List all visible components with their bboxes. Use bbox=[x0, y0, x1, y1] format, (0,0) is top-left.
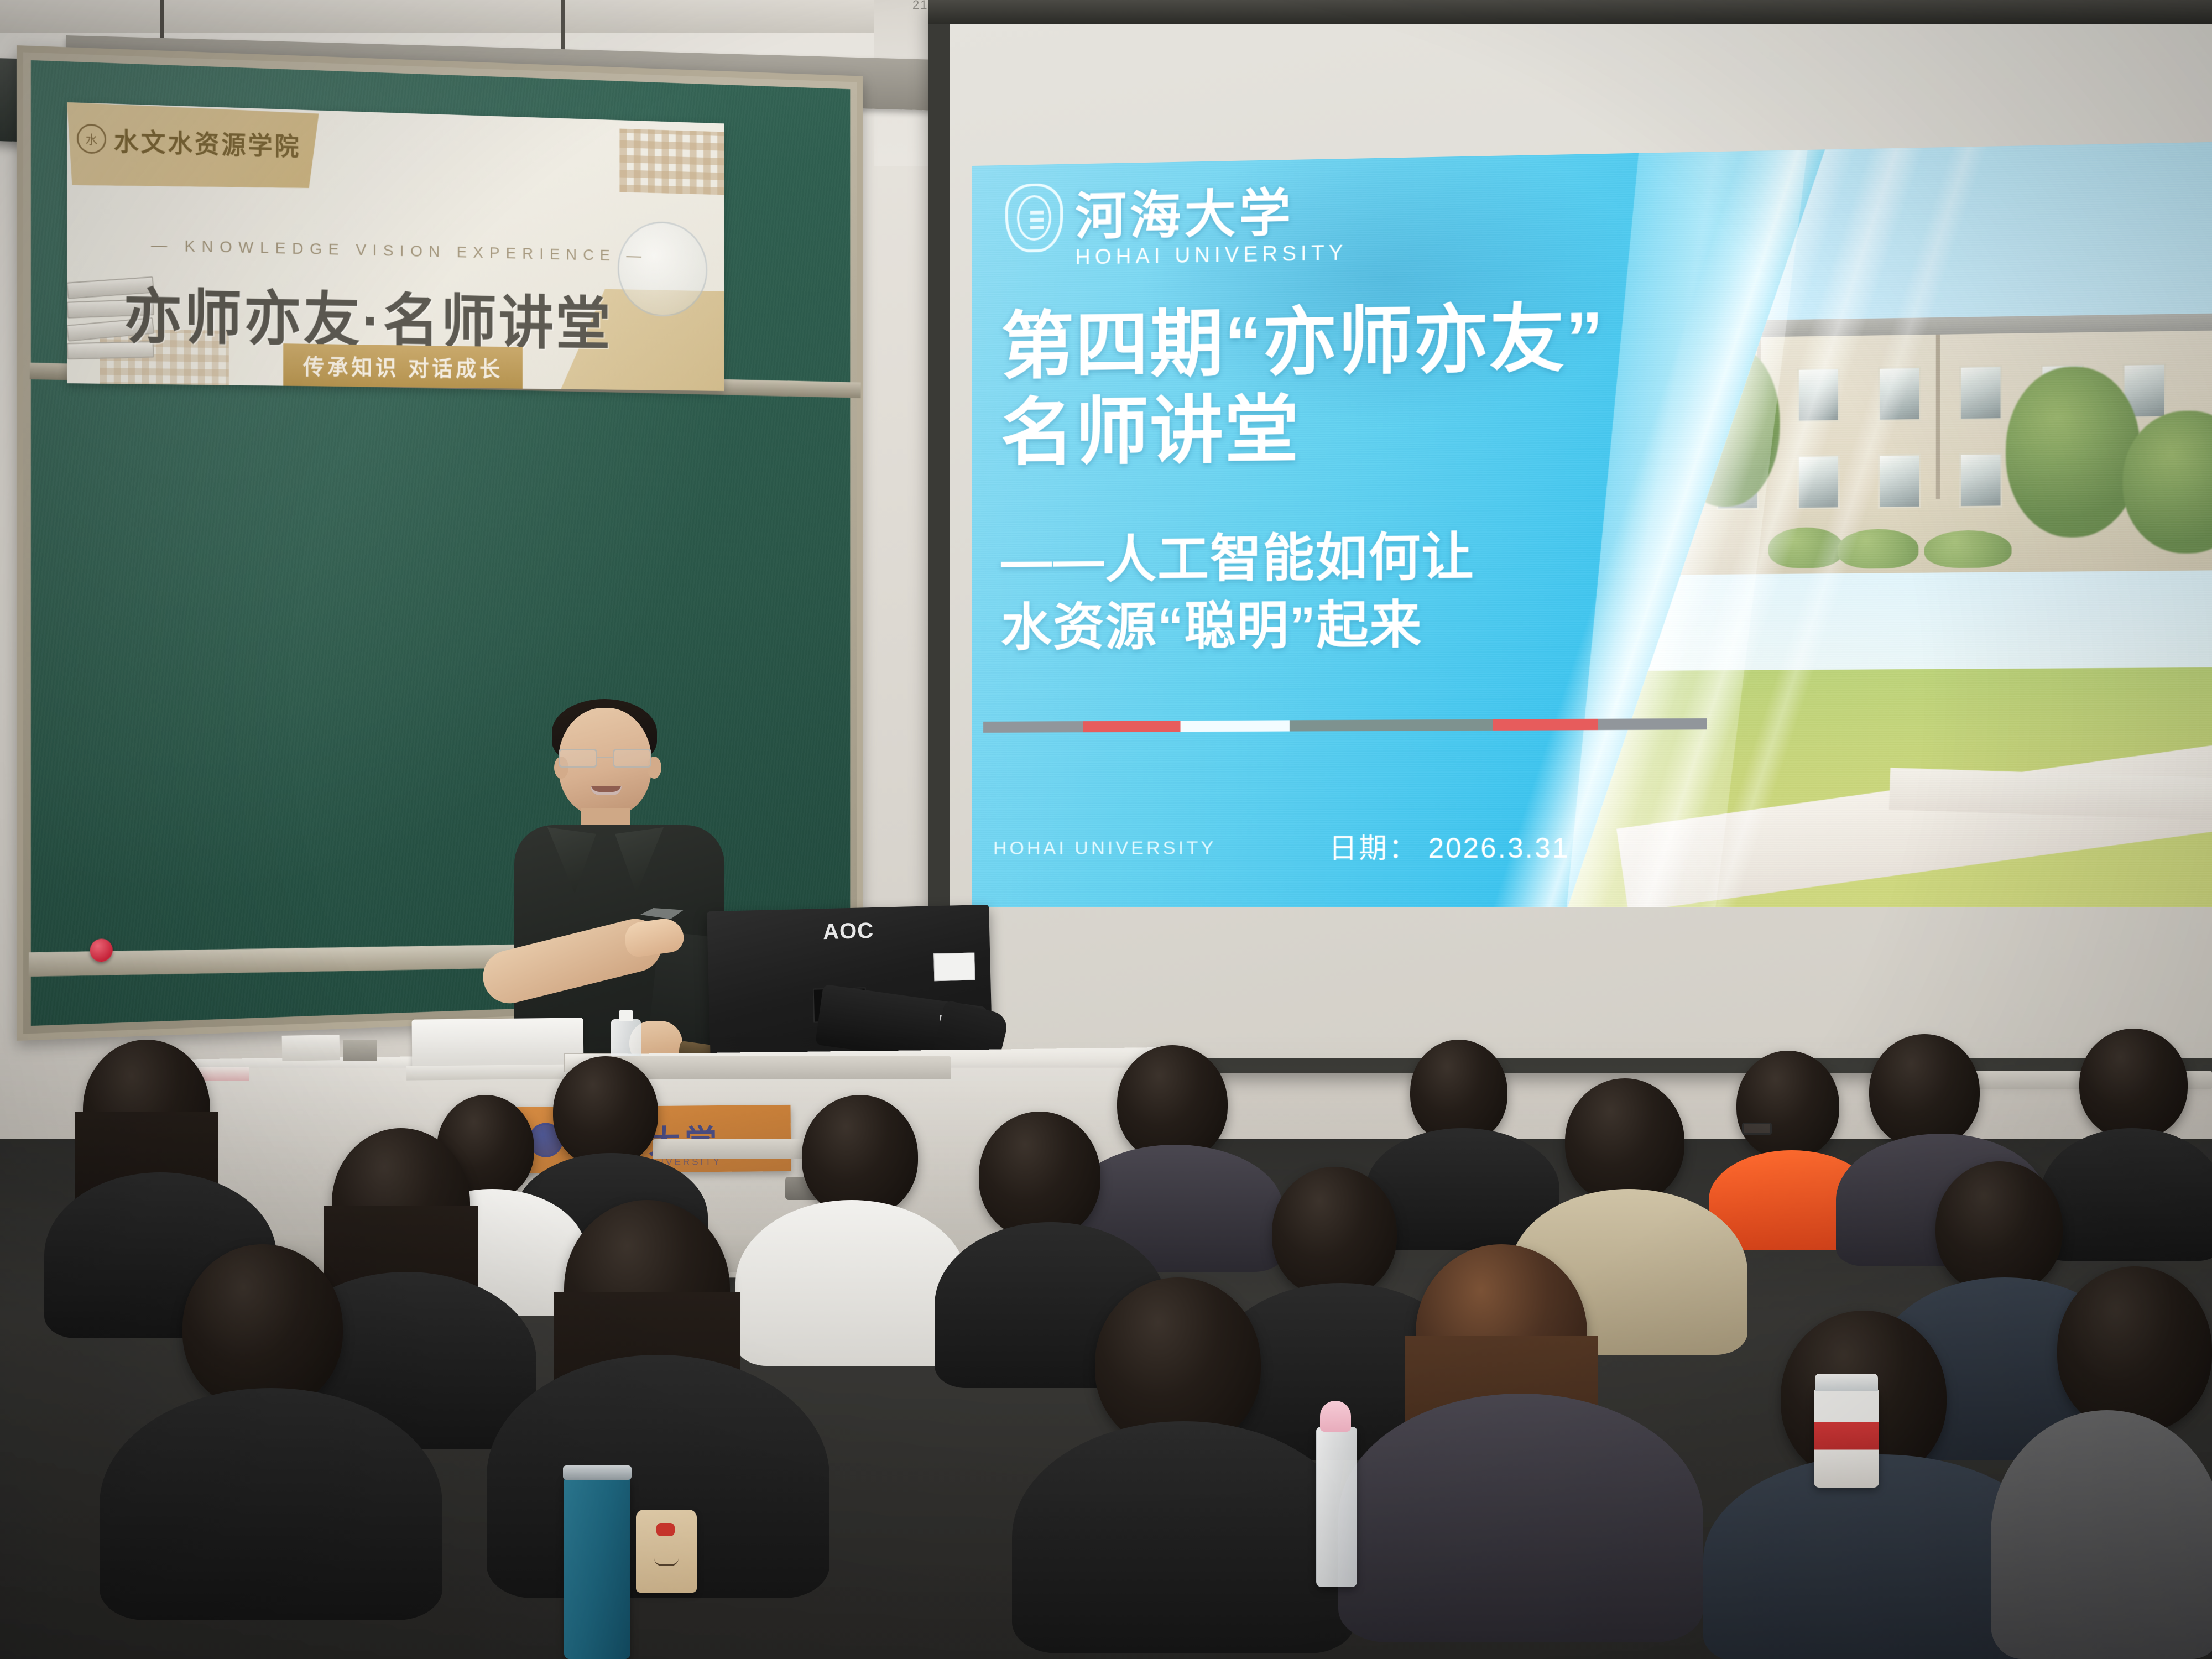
banner-checker-pattern bbox=[619, 129, 724, 195]
audience-head bbox=[2079, 1029, 2188, 1139]
slide-footer-university: HOHAI UNIVERSITY bbox=[993, 837, 1216, 859]
audience-head bbox=[1869, 1034, 1980, 1148]
slide-university-name-cn: 河海大学 bbox=[1075, 187, 1294, 243]
event-banner: 水 水文水资源学院 — KNOWLEDGE VISION EXPERIENCE … bbox=[67, 102, 724, 391]
banner-badge: 传承知识 对话成长 bbox=[283, 343, 523, 389]
eyeglasses-icon bbox=[557, 749, 655, 768]
audience bbox=[0, 1034, 2212, 1659]
slide-divider-segment bbox=[1181, 720, 1290, 732]
thermos-flask bbox=[564, 1477, 630, 1659]
audience-shoulders bbox=[1012, 1421, 1355, 1653]
blackboard: 水 水文水资源学院 — KNOWLEDGE VISION EXPERIENCE … bbox=[17, 45, 863, 1041]
audience-head bbox=[1936, 1161, 2063, 1294]
slide-date: 日期： 2026.3.31 bbox=[1329, 826, 1569, 866]
hohai-crest-icon bbox=[1005, 183, 1063, 253]
audience-head bbox=[1736, 1051, 1839, 1159]
audience-head bbox=[979, 1112, 1100, 1239]
audience-shoulders bbox=[1338, 1394, 1703, 1642]
projection-screen-top-bar bbox=[928, 0, 2212, 24]
slide-divider-segment bbox=[1493, 719, 1598, 731]
projected-slide: 河海大学 HOHAI UNIVERSITY 第四期“亦师亦友” 名师讲堂 ——人… bbox=[972, 142, 2212, 907]
audience-head bbox=[2057, 1266, 2212, 1432]
slide-divider-segment bbox=[1598, 718, 1707, 730]
audience-head bbox=[553, 1056, 658, 1167]
banner-tagline: — KNOWLEDGE VISION EXPERIENCE — bbox=[67, 234, 724, 267]
presenter-mouth bbox=[591, 786, 622, 795]
travel-mug bbox=[1814, 1388, 1879, 1488]
slide-subtitle-line-2: 水资源“聪明”起来 bbox=[1001, 589, 1688, 662]
audience-head bbox=[802, 1095, 918, 1217]
slide-divider-segment bbox=[1290, 719, 1493, 732]
audience-head bbox=[83, 1040, 210, 1178]
audience-shoulders bbox=[100, 1388, 442, 1620]
water-drop-icon: 水 bbox=[77, 123, 106, 154]
audience-shoulders bbox=[1991, 1410, 2212, 1659]
slide-title-line-2: 名师讲堂 bbox=[1001, 381, 1665, 476]
plush-toy bbox=[636, 1510, 697, 1593]
audience-head bbox=[1565, 1078, 1684, 1203]
slide-subtitle-line-1: ——人工智能如何让 bbox=[1001, 521, 1688, 595]
audience-head bbox=[564, 1200, 730, 1377]
audience-head bbox=[1272, 1167, 1397, 1297]
slide-divider-segment bbox=[983, 721, 1083, 733]
slide-title-line-1: 第四期“亦师亦友” bbox=[1001, 293, 1665, 390]
audience-shoulders bbox=[735, 1200, 968, 1366]
slide-title: 第四期“亦师亦友” 名师讲堂 bbox=[1001, 293, 1665, 476]
audience-shoulders bbox=[2041, 1128, 2212, 1261]
audience-head bbox=[1117, 1045, 1228, 1161]
student-desk bbox=[608, 1056, 951, 1079]
slide-university-logo: 河海大学 bbox=[1005, 179, 1294, 253]
eyeglasses-icon bbox=[1742, 1123, 1772, 1135]
audience-head bbox=[182, 1244, 343, 1410]
asset-label bbox=[933, 952, 975, 981]
audience-head bbox=[332, 1128, 470, 1277]
slide-subtitle: ——人工智能如何让 水资源“聪明”起来 bbox=[1001, 521, 1688, 662]
slide-university-name-en: HOHAI UNIVERSITY bbox=[1075, 241, 1347, 270]
monitor-brand-label: AOC bbox=[823, 919, 874, 945]
slide-divider-segment bbox=[1083, 721, 1180, 732]
department-name: 水文水资源学院 bbox=[114, 121, 301, 163]
department-logo: 水 水文水资源学院 bbox=[77, 120, 301, 163]
water-bottle bbox=[1316, 1427, 1357, 1587]
lecture-hall-photo: 213 水 水文水资源学院 — KNOWLEDGE VISION EXPERIE… bbox=[0, 0, 2212, 1659]
